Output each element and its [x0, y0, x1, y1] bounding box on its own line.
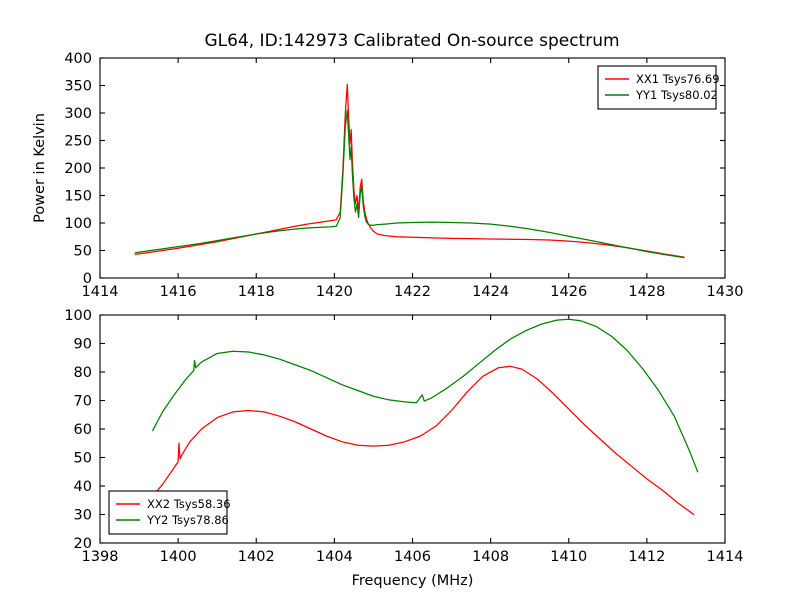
panel-bottom-panel: 1398140014021404140614081410141214142030…: [64, 308, 743, 589]
y-tick-label: 250: [64, 134, 92, 150]
y-tick-label: 100: [64, 308, 92, 324]
series-yy1: [135, 110, 684, 257]
legend-label: YY1 Tsys80.02: [635, 88, 718, 102]
x-tick-label: 1424: [472, 284, 509, 300]
legend-label: YY2 Tsys78.86: [146, 513, 229, 527]
x-tick-label: 1406: [394, 549, 431, 565]
x-tick-label: 1402: [238, 549, 275, 565]
x-tick-label: 1426: [550, 284, 587, 300]
x-tick-label: 1400: [160, 549, 197, 565]
x-tick-label: 1422: [394, 284, 431, 300]
y-tick-label: 350: [64, 79, 92, 95]
y-tick-label: 100: [64, 216, 92, 232]
x-tick-label: 1430: [707, 284, 744, 300]
x-axis-label: Frequency (MHz): [352, 573, 474, 589]
y-axis-label: Power in Kelvin: [32, 113, 48, 223]
y-tick-label: 30: [74, 508, 92, 524]
y-tick-label: 300: [64, 106, 92, 122]
y-tick-label: 70: [74, 394, 92, 410]
y-tick-label: 0: [83, 271, 92, 287]
x-tick-label: 1418: [238, 284, 275, 300]
series-yy2: [153, 319, 698, 471]
y-tick-label: 50: [74, 451, 92, 467]
x-tick-label: 1414: [707, 549, 744, 565]
legend-label: XX1 Tsys76.69: [636, 72, 720, 86]
x-tick-label: 1410: [550, 549, 587, 565]
x-tick-label: 1420: [316, 284, 353, 300]
x-tick-label: 1416: [160, 284, 197, 300]
series-xx2: [153, 366, 694, 514]
y-tick-label: 400: [64, 51, 92, 67]
y-tick-label: 80: [74, 365, 92, 381]
y-tick-label: 40: [74, 479, 92, 495]
plot-canvas: GL64, ID:142973 Calibrated On-source spe…: [0, 0, 800, 600]
series-xx1: [135, 84, 684, 257]
y-tick-label: 20: [74, 536, 92, 552]
x-tick-label: 1428: [628, 284, 665, 300]
y-tick-label: 200: [64, 161, 92, 177]
y-tick-label: 50: [74, 244, 92, 260]
y-tick-label: 150: [64, 189, 92, 205]
page-title: GL64, ID:142973 Calibrated On-source spe…: [204, 31, 619, 51]
legend-label: XX2 Tsys58.36: [147, 497, 231, 511]
x-tick-label: 1408: [472, 549, 509, 565]
spectrum-figure: GL64, ID:142973 Calibrated On-source spe…: [0, 0, 800, 600]
panel-top-panel: 1414141614181420142214241426142814300501…: [32, 51, 743, 300]
x-tick-label: 1412: [628, 549, 665, 565]
y-tick-label: 60: [74, 422, 92, 438]
x-tick-label: 1404: [316, 549, 353, 565]
legend: XX1 Tsys76.69YY1 Tsys80.02: [598, 66, 720, 109]
legend: XX2 Tsys58.36YY2 Tsys78.86: [109, 491, 231, 534]
y-tick-label: 90: [74, 337, 92, 353]
